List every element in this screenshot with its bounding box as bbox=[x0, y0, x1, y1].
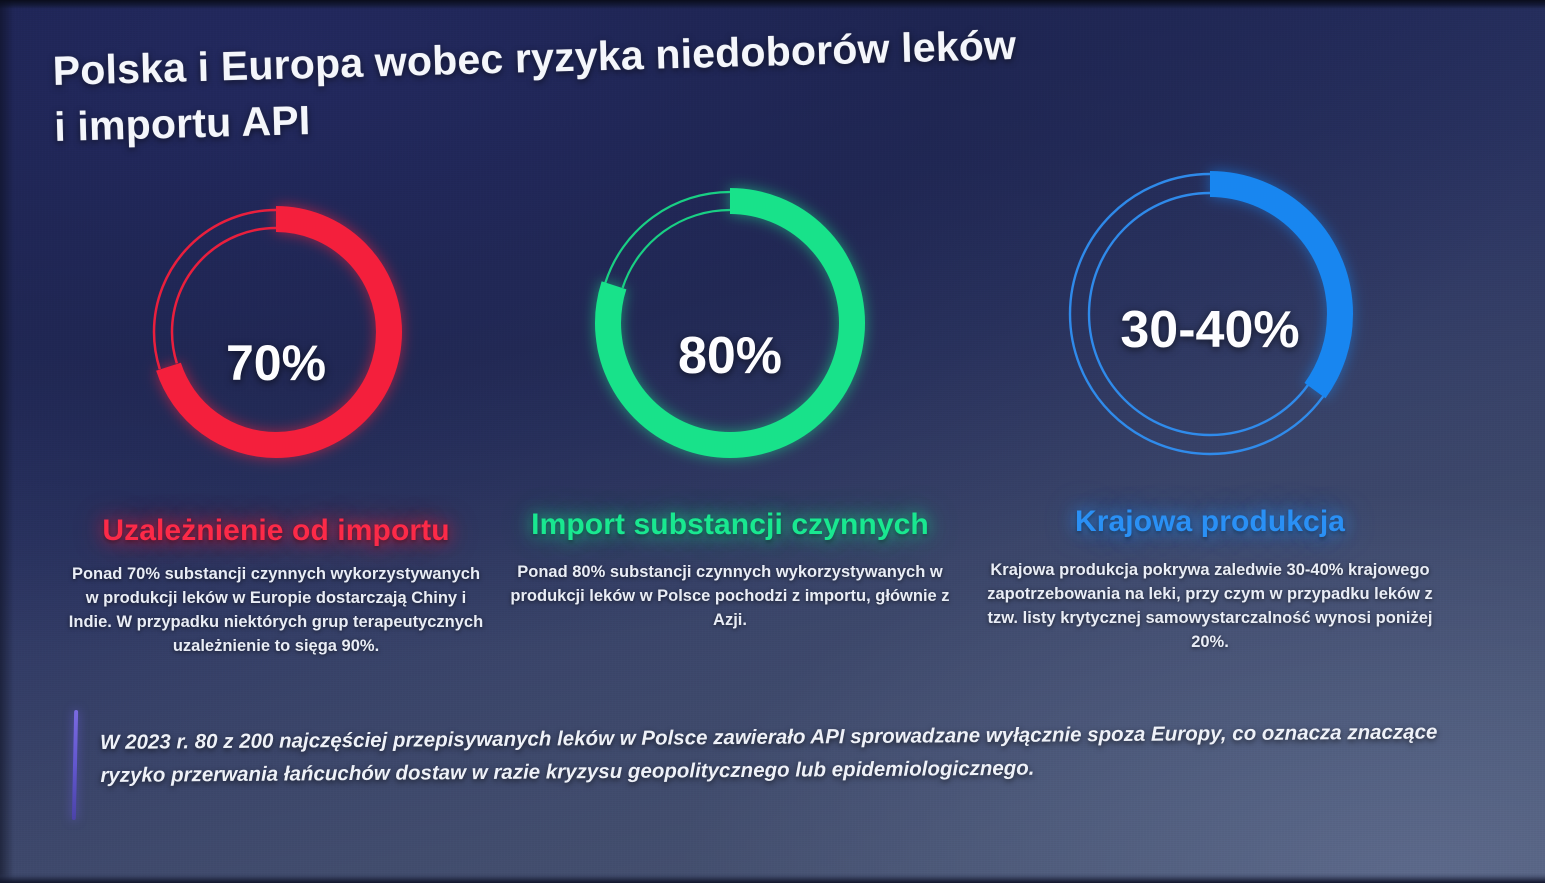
slide-canvas: Polska i Europa wobec ryzyka niedoborów … bbox=[0, 0, 1545, 883]
column-heading-krajowa-produkcja: Krajowa produkcja bbox=[965, 505, 1455, 539]
column-description-uzaleznienie-od-importu: Ponad 70% substancji czynnych wykorzysty… bbox=[60, 562, 492, 658]
column-heading-import-substancji-czynnych: Import substancji czynnych bbox=[505, 508, 955, 542]
donut-chart-uzaleznienie-od-importu bbox=[140, 196, 412, 468]
donut-chart-import-substancji-czynnych bbox=[585, 178, 875, 468]
donut-chart-krajowa-produkcja bbox=[1056, 160, 1364, 468]
column-heading-uzaleznienie-od-importu: Uzależnienie od importu bbox=[60, 514, 492, 548]
footnote: W 2023 r. 80 z 200 najczęściej przepisyw… bbox=[100, 726, 1450, 792]
column-description-import-substancji-czynnych: Ponad 80% substancji czynnych wykorzysty… bbox=[505, 560, 955, 632]
column-description-krajowa-produkcja: Krajowa produkcja pokrywa zaledwie 30-40… bbox=[965, 558, 1455, 654]
footnote-text: W 2023 r. 80 z 200 najczęściej przepisyw… bbox=[100, 715, 1450, 792]
